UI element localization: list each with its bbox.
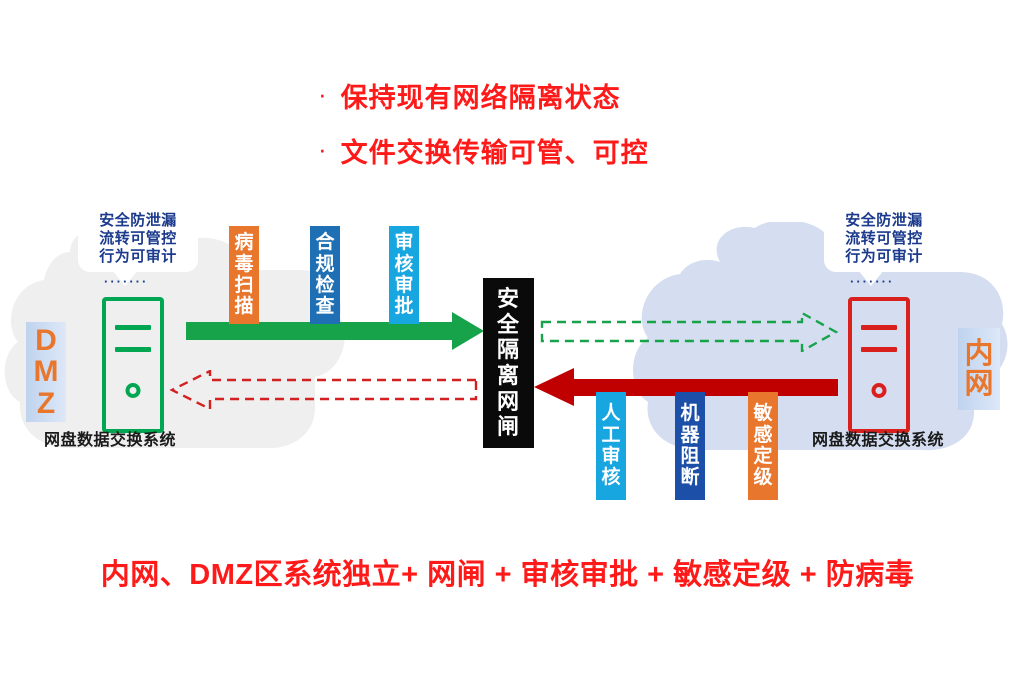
right-callout-line-1: 安全防泄漏 (832, 212, 936, 230)
left-server-icon (102, 297, 164, 433)
zone-chip-char: D (35, 325, 57, 357)
red-dashed-arrow-left (168, 370, 478, 410)
left-callout-line-1: 安全防泄漏 (86, 212, 190, 230)
right-callout-line-2: 流转可管控 (832, 230, 936, 248)
zone-chip-dmz: D M Z (26, 322, 66, 422)
tag-char: 核 (601, 467, 620, 488)
zone-chip-char: Z (37, 388, 55, 420)
tag-char: 审 (601, 446, 620, 467)
headline-bullet-2: · 文件交换传输可管、可控 (318, 131, 878, 170)
tag-char: 敏 (753, 403, 772, 424)
left-callout-dots: ······· (104, 274, 148, 289)
left-callout-line-2: 流转可管控 (86, 230, 190, 248)
tag-char: 查 (315, 296, 334, 317)
inbound-tag-sensitivity-grading: 敏 感 定 级 (748, 392, 778, 500)
outbound-tag-review-approval: 审 核 审 批 (389, 226, 419, 324)
server-bar (861, 347, 898, 352)
gateway-char: 闸 (497, 414, 520, 440)
right-callout-bubble: 安全防泄漏 流转可管控 行为可审计 (824, 206, 944, 272)
right-server-icon (848, 297, 910, 433)
tag-char: 人 (601, 403, 620, 424)
bullet-dot-icon: · (318, 81, 327, 107)
server-power-icon (872, 383, 887, 398)
tag-char: 审 (394, 275, 413, 296)
server-power-icon (126, 383, 141, 398)
headline-bullet-2-text: 文件交换传输可管、可控 (341, 131, 649, 170)
tag-char: 工 (601, 425, 620, 446)
headline-bullet-list: · 保持现有网络隔离状态 · 文件交换传输可管、可控 (318, 76, 878, 186)
left-caption: 网盘数据交换系统 (44, 426, 176, 450)
tag-char: 定 (753, 446, 772, 467)
outbound-tag-compliance-check: 合 规 检 查 (310, 226, 340, 324)
tag-char: 合 (315, 232, 334, 253)
right-callout-dots: ······· (850, 274, 894, 289)
tag-char: 阻 (680, 446, 699, 467)
headline-bullet-1-text: 保持现有网络隔离状态 (341, 76, 621, 115)
gateway-char: 网 (497, 389, 520, 415)
zone-chip-char: M (34, 356, 59, 388)
gateway-char: 安 (497, 286, 520, 312)
tag-char: 审 (394, 232, 413, 253)
summary-line: 内网、DMZ区系统独立+ 网闸 + 审核审批 + 敏感定级 + 防病毒 (0, 551, 1015, 593)
tag-char: 检 (315, 275, 334, 296)
tag-char: 规 (315, 254, 334, 275)
tag-char: 机 (680, 403, 699, 424)
tag-char: 毒 (234, 254, 253, 275)
diagram-canvas: · 保持现有网络隔离状态 · 文件交换传输可管、可控 安全防泄漏 流转可管控 行… (0, 0, 1015, 675)
inbound-tag-machine-block: 机 器 阻 断 (675, 392, 705, 500)
right-callout-line-3: 行为可审计 (832, 248, 936, 266)
server-bar (115, 325, 152, 330)
outbound-tag-virus-scan: 病 毒 扫 描 (229, 226, 259, 324)
tag-char: 扫 (234, 275, 253, 296)
right-caption: 网盘数据交换系统 (812, 426, 944, 450)
tag-char: 描 (234, 296, 253, 317)
gateway-char: 离 (497, 363, 520, 389)
gateway-char: 隔 (497, 337, 520, 363)
tag-char: 批 (394, 296, 413, 317)
tag-char: 核 (394, 254, 413, 275)
inbound-tag-manual-review: 人 工 审 核 (596, 392, 626, 500)
zone-chip-char: 网 (964, 369, 993, 399)
zone-chip-intranet: 内 网 (958, 328, 1000, 410)
gateway-char: 全 (497, 312, 520, 338)
server-bar (861, 325, 898, 330)
left-callout-bubble: 安全防泄漏 流转可管控 行为可审计 (78, 206, 198, 272)
tag-char: 病 (234, 232, 253, 253)
bullet-dot-icon: · (318, 136, 327, 162)
left-callout-line-3: 行为可审计 (86, 248, 190, 266)
headline-bullet-1: · 保持现有网络隔离状态 (318, 76, 878, 115)
server-bar (115, 347, 152, 352)
security-gateway-box: 安 全 隔 离 网 闸 (483, 278, 534, 448)
tag-char: 级 (753, 467, 772, 488)
tag-char: 感 (753, 425, 772, 446)
tag-char: 断 (680, 467, 699, 488)
zone-chip-char: 内 (964, 339, 993, 369)
green-dashed-arrow-right (540, 312, 840, 352)
tag-char: 器 (680, 425, 699, 446)
